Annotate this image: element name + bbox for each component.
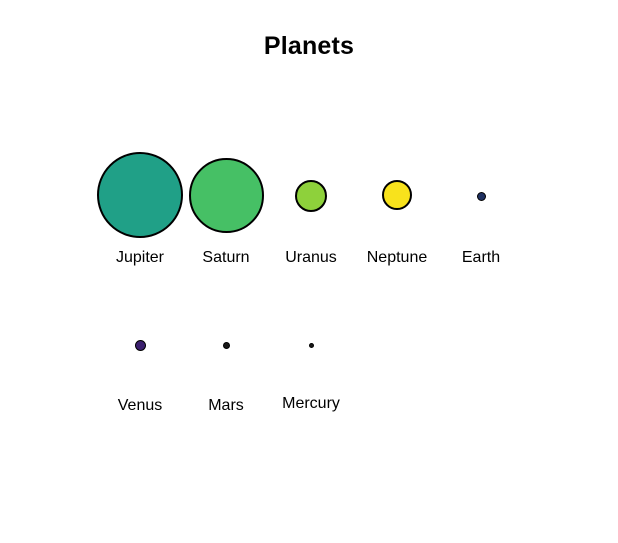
planet-bubble-jupiter[interactable] (97, 152, 183, 238)
planet-bubble-neptune[interactable] (382, 180, 412, 210)
planet-label-mercury: Mercury (251, 396, 371, 412)
bubble-layer: JupiterSaturnUranusNeptuneEarthVenusMars… (0, 0, 618, 543)
planet-bubble-earth[interactable] (477, 192, 486, 201)
planet-bubble-mars[interactable] (223, 342, 230, 349)
planet-bubble-uranus[interactable] (295, 180, 327, 212)
planet-bubble-saturn[interactable] (189, 158, 264, 233)
planet-bubble-mercury[interactable] (309, 343, 314, 348)
planets-bubble-chart: Planets JupiterSaturnUranusNeptuneEarthV… (0, 0, 618, 543)
planet-bubble-venus[interactable] (135, 340, 146, 351)
planet-label-earth: Earth (421, 250, 541, 266)
